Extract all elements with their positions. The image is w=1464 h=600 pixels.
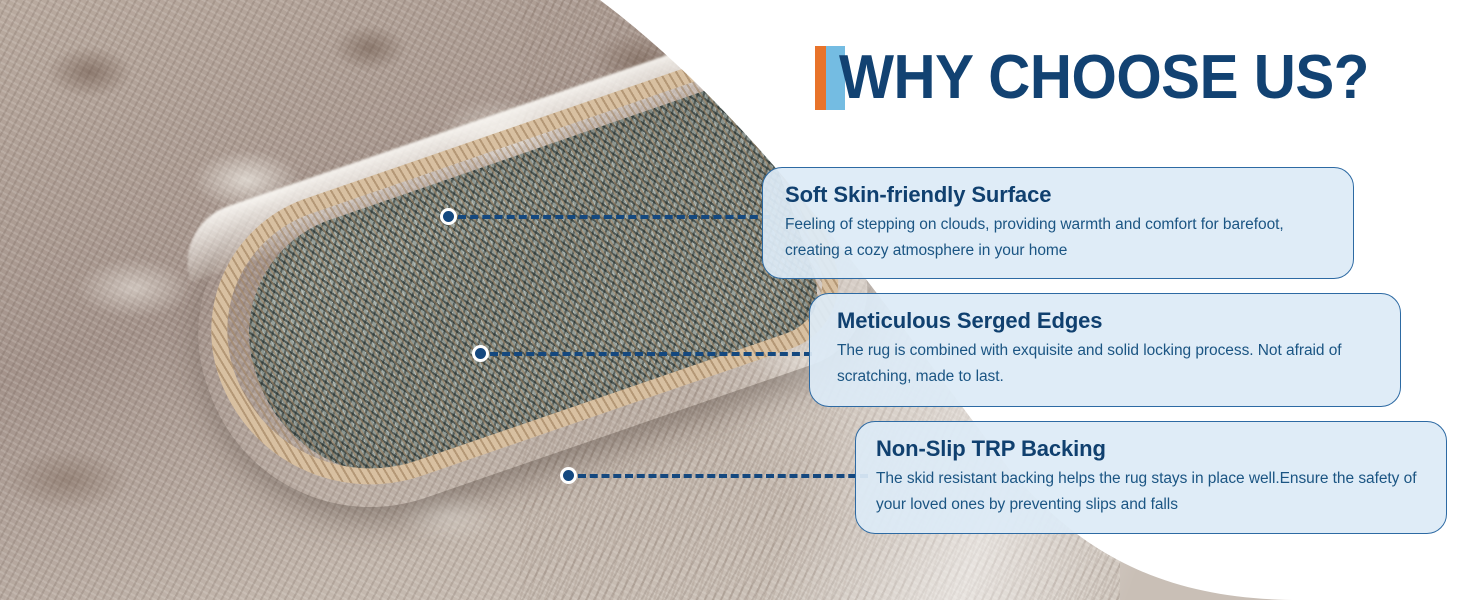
feature-card-body: The skid resistant backing helps the rug…	[876, 466, 1426, 518]
feature-card-non-slip-trp-backing: Non-Slip TRP Backing The skid resistant …	[855, 421, 1447, 534]
connector-dot-3	[560, 467, 577, 484]
title-accent-orange-bar	[815, 46, 826, 110]
connector-dot-1	[440, 208, 457, 225]
feature-card-body: The rug is combined with exquisite and s…	[837, 338, 1380, 390]
infographic-banner: WHY CHOOSE US? Soft Skin-friendly Surfac…	[0, 0, 1464, 600]
connector-line-2	[490, 352, 812, 356]
feature-card-heading: Non-Slip TRP Backing	[876, 436, 1426, 462]
feature-card-meticulous-serged-edges: Meticulous Serged Edges The rug is combi…	[809, 293, 1401, 407]
feature-card-heading: Soft Skin-friendly Surface	[785, 182, 1333, 208]
connector-line-3	[578, 474, 868, 478]
feature-card-body: Feeling of stepping on clouds, providing…	[785, 212, 1333, 264]
feature-card-soft-skin-friendly-surface: Soft Skin-friendly Surface Feeling of st…	[762, 167, 1354, 279]
page-title-text: WHY CHOOSE US?	[839, 46, 1369, 110]
connector-dot-2	[472, 345, 489, 362]
page-title: WHY CHOOSE US?	[815, 46, 1403, 110]
feature-card-heading: Meticulous Serged Edges	[837, 308, 1380, 334]
connector-line-1	[458, 215, 770, 219]
